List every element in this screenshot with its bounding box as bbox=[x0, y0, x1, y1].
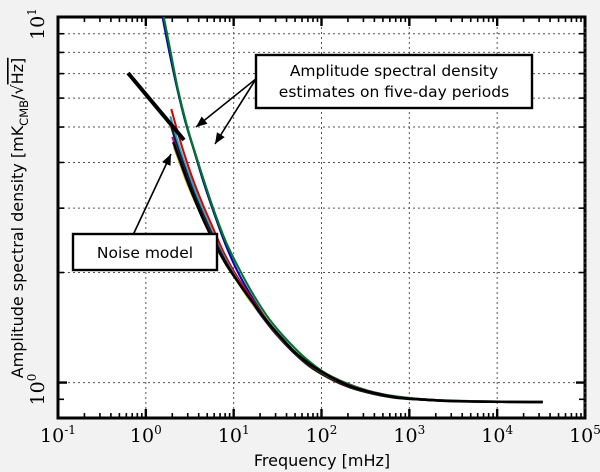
annotation-text-line-2: estimates on five-day periods bbox=[279, 83, 509, 101]
y-axis-title-hz: Hz] bbox=[8, 58, 27, 85]
y-axis-title-subscript: CMB bbox=[17, 100, 31, 126]
x-axis-title: Frequency [mHz] bbox=[254, 451, 390, 470]
log-log-plot: Amplitude spectral densityestimates on f… bbox=[0, 0, 600, 472]
chart-figure: Amplitude spectral densityestimates on f… bbox=[0, 0, 600, 472]
y-axis-title-prefix: Amplitude spectral density [mK bbox=[8, 125, 27, 378]
annotation-text-line-1: Noise model bbox=[97, 244, 193, 262]
annotation-text-line-1: Amplitude spectral density bbox=[290, 62, 498, 80]
